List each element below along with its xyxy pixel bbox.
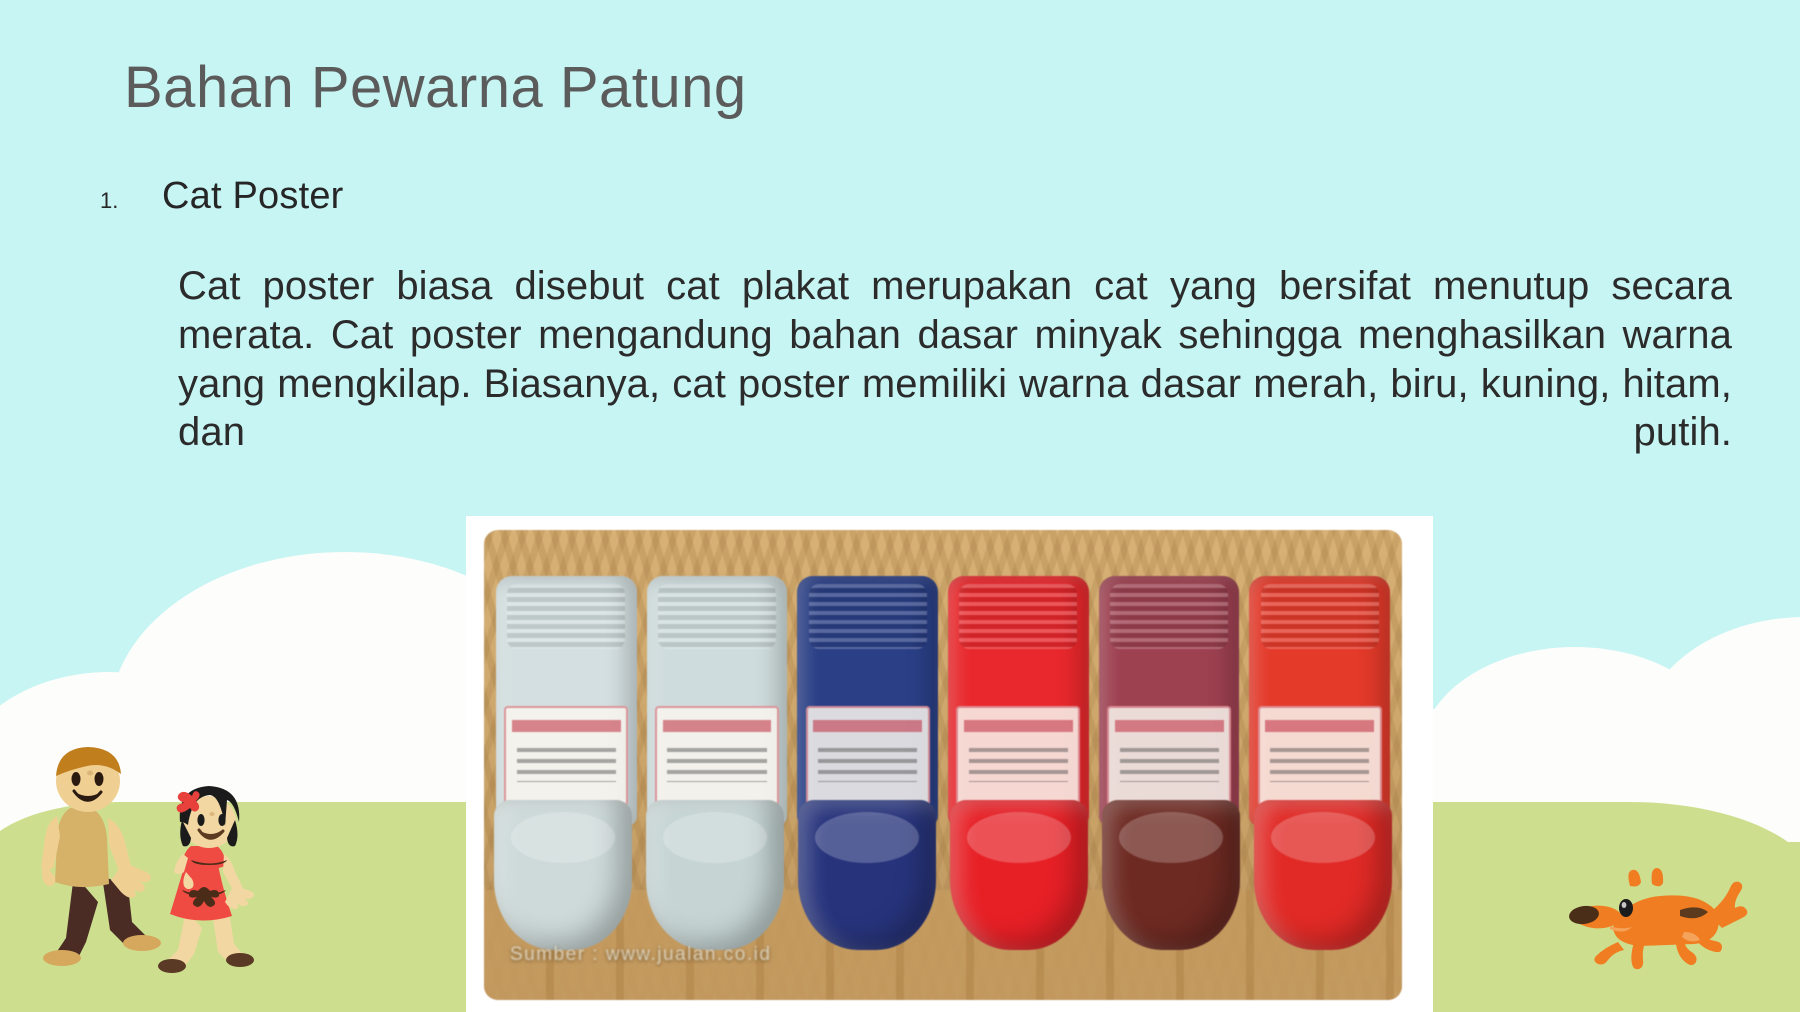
slide: Bahan Pewarna Patung 1. Cat Poster Cat p… (0, 0, 1800, 1012)
photo-watermark: Sumber : www.jualan.co.id (510, 944, 771, 966)
list-item: 1. Cat Poster (100, 175, 1660, 218)
kids-illustration (36, 742, 306, 992)
list-item-label: Cat Poster (162, 175, 344, 218)
bowl-blue (798, 800, 936, 950)
dog-running-icon (1568, 868, 1778, 978)
bowl-row-front (494, 780, 1392, 950)
photo-frame: Sumber : www.jualan.co.id (466, 516, 1433, 1012)
bowl-red-2 (1254, 800, 1392, 950)
page-title: Bahan Pewarna Patung (124, 58, 747, 119)
body-paragraph: Cat poster biasa disebut cat plakat meru… (178, 262, 1732, 506)
cloud-shape (1640, 617, 1800, 862)
girl-walking-icon (158, 786, 254, 973)
cloud-shape (1420, 647, 1730, 862)
paint-jars-photo: Sumber : www.jualan.co.id (484, 530, 1402, 1000)
bowl-red-1 (950, 800, 1088, 950)
bowl-white-1 (494, 800, 632, 950)
list-item-number: 1. (100, 188, 162, 214)
boy-walking-icon (41, 747, 161, 966)
bowl-white-2 (646, 800, 784, 950)
bowl-brown (1102, 800, 1240, 950)
